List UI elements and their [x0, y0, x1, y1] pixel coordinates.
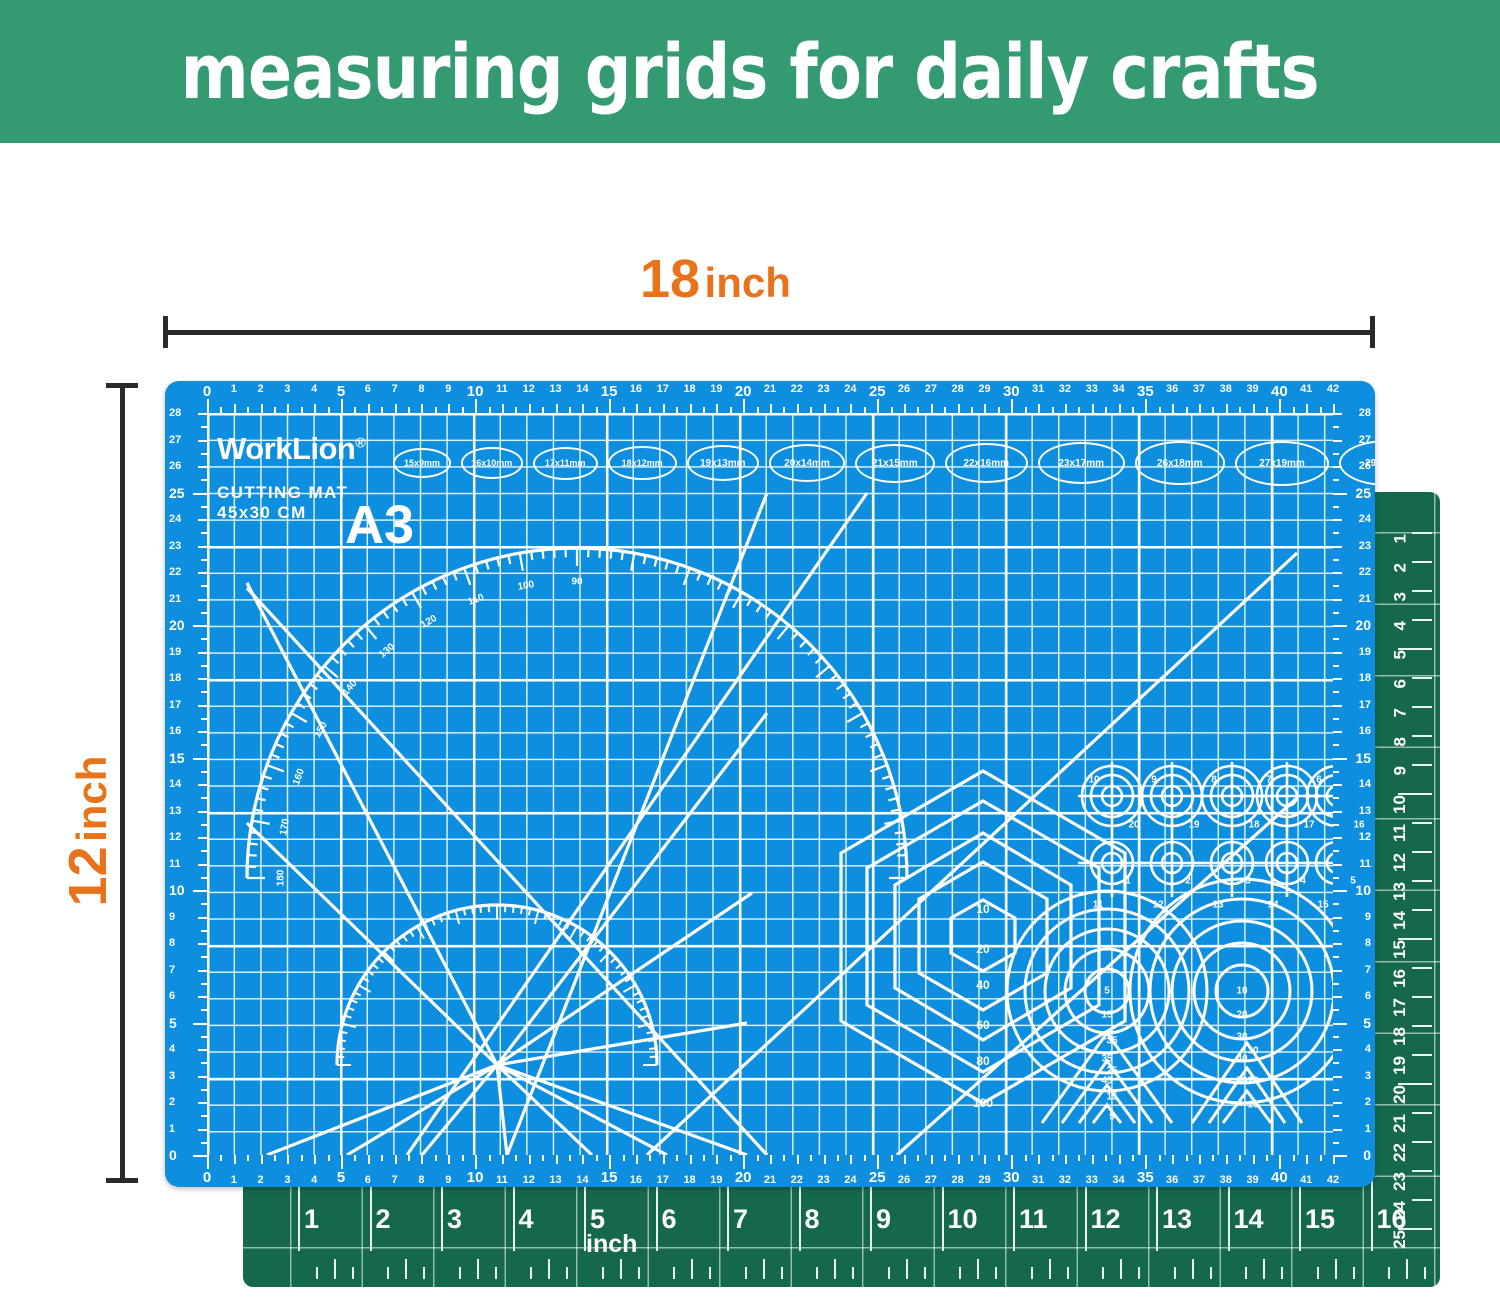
ruler-tick	[1279, 399, 1281, 413]
registered-mark: ®	[355, 435, 365, 451]
green-ruler-minor-tick	[352, 1267, 354, 1279]
ruler-label: 41	[1300, 1174, 1312, 1186]
ruler-tick	[1306, 1155, 1308, 1164]
green-ruler-tick	[1299, 1177, 1301, 1251]
ruler-tick	[1333, 519, 1342, 521]
ellipse-template: 23x17mm	[1038, 442, 1125, 484]
ruler-tick	[984, 1155, 986, 1164]
ruler-minor-tick	[569, 1155, 571, 1161]
ruler-label: 28	[952, 383, 964, 395]
ruler-label: 4	[169, 1043, 175, 1055]
ruler-tick	[716, 404, 718, 413]
mat-brand-logo: WorkLion® CUTTING MAT 45x30 CM A3	[217, 431, 402, 544]
ruler-label: 3	[284, 1174, 290, 1186]
ruler-label: 25	[1355, 485, 1371, 501]
ruler-tick	[198, 599, 207, 601]
ruler-label: 6	[1365, 990, 1371, 1002]
green-ruler-minor-tick	[852, 1267, 854, 1279]
ruler-label: 14	[169, 778, 181, 790]
ruler-label: 1	[169, 1123, 175, 1135]
ruler-minor-tick	[1052, 1155, 1054, 1161]
ruler-minor-tick	[1333, 479, 1339, 481]
ruler-tick	[198, 1076, 207, 1078]
shape-label: 2	[1185, 876, 1191, 887]
ruler-tick	[877, 399, 879, 413]
ruler-label: 21	[764, 383, 776, 395]
ruler-tick	[421, 404, 423, 413]
ruler-tick	[690, 404, 692, 413]
ruler-minor-tick	[1333, 983, 1339, 985]
ruler-label: 13	[1359, 805, 1371, 817]
ruler-minor-tick	[408, 1155, 410, 1161]
ruler-tick	[198, 996, 207, 998]
shape-label: 15	[1101, 1010, 1112, 1021]
ruler-minor-tick	[864, 1155, 866, 1161]
ruler-label: 33	[1086, 383, 1098, 395]
ruler-label: 23	[1359, 540, 1371, 552]
ruler-tick	[1333, 784, 1342, 786]
ellipse-template: 19x13mm	[687, 445, 759, 481]
ruler-label: 27	[925, 383, 937, 395]
ruler-label: 37	[1193, 1174, 1205, 1186]
ruler-minor-tick	[201, 1115, 207, 1117]
ruler-minor-tick	[1333, 1115, 1339, 1117]
ruler-tick	[448, 404, 450, 413]
ruler-tick	[1333, 996, 1342, 998]
ruler-label: 15	[601, 383, 618, 400]
ruler-minor-tick	[730, 407, 732, 413]
ruler-minor-tick	[891, 407, 893, 413]
ruler-label: 38	[1220, 383, 1232, 395]
green-ruler-minor-tick	[638, 1267, 640, 1279]
ruler-minor-tick	[201, 532, 207, 534]
ruler-minor-tick	[201, 1089, 207, 1091]
green-ruler-label: 13	[1162, 1204, 1192, 1235]
green-ruler-minor-tick	[334, 1259, 336, 1279]
ruler-minor-tick	[201, 1142, 207, 1144]
ruler-tick	[824, 404, 826, 413]
ruler-label: 23	[817, 1174, 829, 1186]
ruler-label: 24	[1359, 513, 1371, 525]
ruler-label: 1	[231, 1174, 237, 1186]
ruler-tick	[421, 1155, 423, 1164]
green-right-label: 22	[1390, 1143, 1410, 1162]
green-ruler-minor-tick	[548, 1259, 550, 1279]
ruler-label: 5	[169, 1015, 177, 1031]
green-ruler-tick	[1156, 1177, 1158, 1251]
ruler-minor-tick	[1159, 1155, 1161, 1161]
ruler-tick	[1333, 837, 1342, 839]
ruler-tick	[1226, 404, 1228, 413]
green-ruler-minor-tick	[1317, 1267, 1319, 1279]
ellipse-template: 16x10mm	[461, 447, 523, 479]
ruler-label: 14	[576, 383, 588, 395]
green-right-label: 8	[1390, 737, 1410, 746]
ruler-label: 27	[169, 434, 181, 446]
ruler-tick	[1333, 1129, 1342, 1131]
ruler-tick	[1199, 404, 1201, 413]
green-right-label: 17	[1390, 998, 1410, 1017]
ruler-tick	[1306, 404, 1308, 413]
ruler-tick	[198, 970, 207, 972]
ruler-label: 19	[710, 383, 722, 395]
green-ruler-minor-tick	[1174, 1267, 1176, 1279]
ruler-tick	[207, 399, 209, 413]
ruler-tick	[1333, 705, 1342, 707]
green-right-tick	[1412, 677, 1432, 679]
ellipse-template: 18x12mm	[608, 446, 677, 481]
ruler-tick	[261, 1155, 263, 1164]
ruler-label: 20	[169, 617, 185, 633]
green-ruler-minor-tick	[709, 1267, 711, 1279]
ruler-minor-tick	[201, 983, 207, 985]
ruler-tick	[198, 678, 207, 680]
green-ruler-label: 7	[733, 1204, 748, 1235]
green-right-label: 5	[1390, 650, 1410, 659]
ruler-label: 19	[1359, 646, 1371, 658]
ruler-minor-tick	[1333, 1062, 1339, 1064]
green-right-tick	[1412, 996, 1432, 998]
ruler-minor-tick	[1186, 1155, 1188, 1161]
ruler-tick	[193, 625, 207, 627]
shape-label: 10	[1247, 1100, 1258, 1111]
ruler-minor-tick	[201, 903, 207, 905]
ruler-label: 37	[1193, 383, 1205, 395]
ruler-label: 40	[1271, 383, 1288, 400]
shape-label: 40	[976, 978, 989, 992]
ruler-label: 7	[392, 1174, 398, 1186]
ruler-minor-tick	[1333, 718, 1339, 720]
ruler-minor-tick	[408, 407, 410, 413]
ruler-minor-tick	[730, 1155, 732, 1161]
ruler-tick	[984, 404, 986, 413]
ruler-label: 15	[169, 750, 185, 766]
ruler-tick	[824, 1155, 826, 1164]
shape-label: 18	[1248, 820, 1259, 831]
ruler-tick	[1011, 1155, 1013, 1169]
ruler-tick	[198, 943, 207, 945]
green-right-tick	[1412, 880, 1432, 882]
ruler-label: 38	[1220, 1174, 1232, 1186]
ruler-minor-tick	[354, 1155, 356, 1161]
green-right-tick	[1412, 735, 1432, 737]
ruler-minor-tick	[489, 407, 491, 413]
green-ruler-tick	[1085, 1177, 1087, 1251]
ruler-label: 31	[1032, 383, 1044, 395]
ruler-minor-tick	[998, 1155, 1000, 1161]
height-dimension-value: 12	[58, 846, 118, 906]
brand-name: WorkLion®	[217, 431, 365, 467]
ruler-label: 42	[1327, 383, 1339, 395]
ruler-tick	[198, 1102, 207, 1104]
ruler-tick	[1333, 970, 1342, 972]
green-ruler-label: 3	[447, 1204, 462, 1235]
ruler-label: 2	[258, 383, 264, 395]
ruler-label: 25	[869, 1169, 886, 1186]
shape-label: 5	[1109, 1112, 1115, 1123]
ruler-label: 3	[1365, 1070, 1371, 1082]
green-ruler-minor-tick	[459, 1267, 461, 1279]
ruler-minor-tick	[1052, 407, 1054, 413]
green-ruler-minor-tick	[977, 1259, 979, 1279]
green-right-tick	[1412, 1141, 1432, 1143]
green-mat-inch-label: inch	[586, 1230, 637, 1259]
ruler-label: 35	[1137, 383, 1154, 400]
ruler-label: 22	[1359, 566, 1371, 578]
ruler-minor-tick	[542, 1155, 544, 1161]
ruler-label: 24	[169, 513, 181, 525]
ruler-tick	[1038, 404, 1040, 413]
ruler-tick	[193, 890, 207, 892]
ruler-label: 18	[169, 672, 181, 684]
ruler-minor-tick	[435, 407, 437, 413]
ruler-label: 24	[844, 1174, 856, 1186]
ruler-minor-tick	[1239, 407, 1241, 413]
green-right-label: 19	[1390, 1056, 1410, 1075]
green-right-label: 16	[1390, 969, 1410, 988]
green-right-label: 18	[1390, 1027, 1410, 1046]
banner-title: measuring grids for daily crafts	[181, 27, 1319, 116]
ruler-minor-tick	[462, 407, 464, 413]
ruler-minor-tick	[201, 506, 207, 508]
ruler-label: 33	[1086, 1174, 1098, 1186]
shape-label: 15	[1106, 1092, 1117, 1103]
ruler-tick	[193, 1155, 207, 1157]
ruler-minor-tick	[891, 1155, 893, 1161]
ruler-tick	[502, 404, 504, 413]
ruler-tick	[1333, 1155, 1347, 1157]
ruler-minor-tick	[1186, 407, 1188, 413]
ruler-label: 18	[1359, 672, 1371, 684]
ruler-minor-tick	[247, 1155, 249, 1161]
ruler-tick	[198, 1049, 207, 1051]
ruler-label: 19	[710, 1174, 722, 1186]
ruler-tick	[1172, 1155, 1174, 1164]
ruler-label: 10	[169, 882, 185, 898]
green-ruler-minor-tick	[566, 1267, 568, 1279]
ruler-tick	[1038, 1155, 1040, 1164]
ruler-tick	[198, 546, 207, 548]
ruler-tick	[529, 404, 531, 413]
ruler-label: 36	[1166, 383, 1178, 395]
ruler-label: 17	[169, 699, 181, 711]
ruler-label: 16	[1359, 725, 1371, 737]
ruler-label: 0	[169, 1147, 177, 1163]
ruler-label: 7	[392, 383, 398, 395]
ruler-minor-tick	[542, 407, 544, 413]
shape-label: 50	[1236, 1076, 1247, 1087]
ruler-minor-tick	[810, 407, 812, 413]
ruler-minor-tick	[703, 1155, 705, 1161]
ruler-label: 12	[523, 383, 535, 395]
green-ruler-label: 15	[1305, 1204, 1335, 1235]
green-ruler-minor-tick	[1335, 1259, 1337, 1279]
ruler-minor-tick	[201, 453, 207, 455]
ruler-label: 29	[978, 383, 990, 395]
ruler-tick	[1333, 625, 1347, 627]
shape-label: 60	[976, 1018, 989, 1032]
ruler-minor-tick	[1132, 1155, 1134, 1161]
ruler-label: 5	[337, 383, 345, 400]
ruler-minor-tick	[201, 718, 207, 720]
shape-label: 17	[1303, 820, 1314, 831]
ruler-tick	[475, 399, 477, 413]
shape-label: 11	[1093, 900, 1104, 911]
green-right-label: 6	[1390, 679, 1410, 688]
ruler-label: 10	[467, 383, 484, 400]
ruler-label: 32	[1059, 1174, 1071, 1186]
ruler-minor-tick	[1212, 407, 1214, 413]
green-ruler-tick	[298, 1177, 300, 1251]
ruler-label: 12	[1359, 831, 1371, 843]
ruler-label: 6	[169, 990, 175, 1002]
shape-label: 9	[1151, 775, 1157, 786]
ruler-tick	[636, 404, 638, 413]
green-ruler-label: 4	[519, 1204, 534, 1235]
ruler-minor-tick	[1333, 506, 1339, 508]
ruler-minor-tick	[201, 824, 207, 826]
ruler-tick	[636, 1155, 638, 1164]
green-ruler-label: 10	[948, 1204, 978, 1235]
ruler-tick	[904, 1155, 906, 1164]
ruler-label: 1	[231, 383, 237, 395]
shape-label: 13	[1212, 900, 1223, 911]
ruler-label: 20	[1355, 617, 1371, 633]
ruler-tick	[1145, 399, 1147, 413]
ruler-label: 20	[735, 1169, 752, 1186]
ellipse-template: 15x9mm	[393, 448, 451, 478]
ruler-tick	[234, 404, 236, 413]
ruler-tick	[1226, 1155, 1228, 1164]
shape-label: 10	[976, 902, 989, 916]
ruler-label: 42	[1327, 1174, 1339, 1186]
green-ruler-tick	[441, 1177, 443, 1251]
shape-label: 25	[1106, 1066, 1117, 1077]
ruler-minor-tick	[1333, 638, 1339, 640]
ruler-label: 34	[1112, 1174, 1124, 1186]
ruler-minor-tick	[1105, 407, 1107, 413]
green-right-label: 21	[1390, 1114, 1410, 1133]
ruler-minor-tick	[1333, 1036, 1339, 1038]
ruler-minor-tick	[1333, 824, 1339, 826]
green-ruler-label: 1	[304, 1204, 319, 1235]
ruler-label: 36	[1166, 1174, 1178, 1186]
ruler-minor-tick	[1333, 453, 1339, 455]
ruler-tick	[1199, 1155, 1201, 1164]
ruler-minor-tick	[328, 407, 330, 413]
ruler-tick	[287, 1155, 289, 1164]
ruler-minor-tick	[1333, 1089, 1339, 1091]
ruler-tick	[198, 572, 207, 574]
ruler-label: 28	[1359, 407, 1371, 419]
ruler-label: 26	[169, 460, 181, 472]
ruler-minor-tick	[971, 1155, 973, 1161]
shape-label: 20	[1128, 820, 1139, 831]
ruler-minor-tick	[201, 956, 207, 958]
ruler-label: 5	[1363, 1015, 1371, 1031]
ruler-tick	[716, 1155, 718, 1164]
green-right-tick	[1412, 590, 1432, 592]
ruler-minor-tick	[1333, 691, 1339, 693]
ruler-label: 26	[898, 1174, 910, 1186]
ruler-minor-tick	[917, 407, 919, 413]
blue-mat-top-ruler: 0123456789101112131415161718192021222324…	[207, 381, 1333, 413]
ruler-tick	[1333, 1049, 1342, 1051]
ruler-label: 8	[418, 1174, 424, 1186]
shape-label: 7	[1266, 775, 1272, 786]
ruler-minor-tick	[1333, 877, 1339, 879]
ruler-tick	[341, 1155, 343, 1169]
ruler-tick	[1333, 440, 1342, 442]
ruler-minor-tick	[489, 1155, 491, 1161]
ruler-tick	[663, 1155, 665, 1164]
green-ruler-minor-tick	[924, 1267, 926, 1279]
ruler-minor-tick	[1078, 407, 1080, 413]
ruler-tick	[1065, 1155, 1067, 1164]
ruler-label: 11	[496, 383, 508, 395]
ruler-tick	[609, 399, 611, 413]
green-ruler-label: 8	[805, 1204, 820, 1235]
ruler-label: 23	[817, 383, 829, 395]
green-ruler-minor-tick	[959, 1267, 961, 1279]
ruler-tick	[1333, 917, 1342, 919]
green-right-label: 11	[1390, 824, 1410, 842]
ruler-label: 15	[601, 1169, 618, 1186]
ruler-minor-tick	[676, 1155, 678, 1161]
ruler-tick	[1253, 1155, 1255, 1164]
ruler-label: 16	[169, 725, 181, 737]
ruler-label: 7	[1365, 964, 1371, 976]
green-ruler-minor-tick	[602, 1267, 604, 1279]
ruler-label: 3	[169, 1070, 175, 1082]
ruler-tick	[1333, 731, 1342, 733]
ruler-label: 0	[203, 1169, 211, 1186]
shape-label: 100	[973, 1096, 993, 1110]
ruler-minor-tick	[837, 407, 839, 413]
ruler-label: 10	[467, 1169, 484, 1186]
green-right-tick	[1412, 822, 1432, 824]
ruler-tick	[1333, 413, 1342, 415]
ruler-tick	[198, 917, 207, 919]
shape-label: 80	[976, 1054, 989, 1068]
ruler-label: 30	[1003, 1169, 1020, 1186]
blue-cutting-mat: 1020406080100515253545102030405035251553…	[165, 381, 1375, 1187]
green-ruler-label: 14	[1234, 1204, 1264, 1235]
ruler-minor-tick	[703, 407, 705, 413]
ruler-label: 9	[445, 383, 451, 395]
ruler-label: 0	[203, 383, 211, 400]
ruler-tick	[609, 1155, 611, 1169]
shape-label: 4	[1300, 876, 1306, 887]
ruler-label: 29	[978, 1174, 990, 1186]
ruler-tick	[207, 1155, 209, 1169]
ruler-tick	[1333, 811, 1342, 813]
ruler-label: 4	[311, 1174, 317, 1186]
ruler-minor-tick	[596, 1155, 598, 1161]
ruler-label: 9	[169, 911, 175, 923]
brand-text: WorkLion	[217, 431, 355, 466]
ruler-minor-tick	[201, 744, 207, 746]
ruler-label: 6	[365, 1174, 371, 1186]
ruler-tick	[193, 758, 207, 760]
ruler-minor-tick	[1333, 744, 1339, 746]
shape-label: 30	[1247, 1046, 1258, 1057]
ruler-tick	[368, 1155, 370, 1164]
ruler-minor-tick	[864, 407, 866, 413]
ruler-minor-tick	[201, 771, 207, 773]
ruler-label: 2	[169, 1096, 175, 1108]
shape-label: 20	[1236, 1010, 1247, 1021]
